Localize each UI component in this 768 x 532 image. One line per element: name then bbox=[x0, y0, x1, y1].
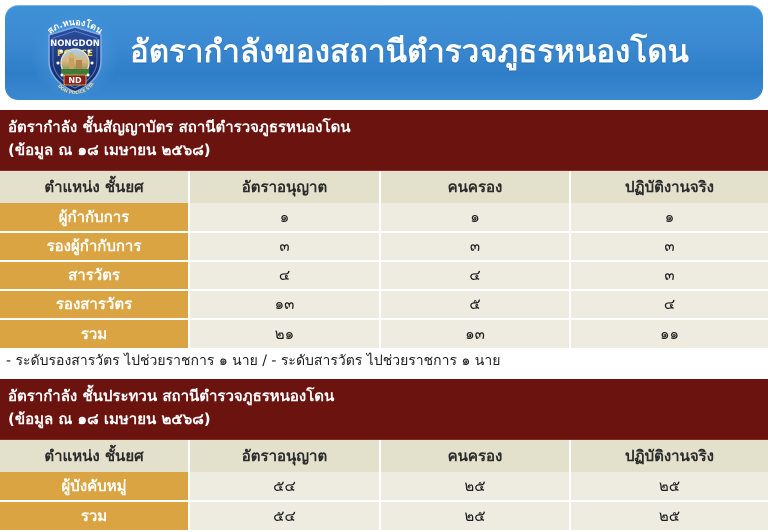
page-root: สภ.หนองโดน NONGDON POLICE bbox=[0, 0, 768, 532]
table2-col-held: คนครอง bbox=[380, 440, 570, 472]
table1-r0-rank: ผู้กำกับการ bbox=[0, 203, 189, 232]
table-commissioned-officers: อัตรากำลัง ชั้นสัญญาบัตร สถานีตำรวจภูธรห… bbox=[0, 110, 768, 348]
table1-r2-rank: สารวัตร bbox=[0, 261, 189, 290]
table2-title-line1: อัตรากำลัง ชั้นประทวน สถานีตำรวจภูธรหนอง… bbox=[8, 385, 760, 408]
svg-text:NONGDON: NONGDON bbox=[50, 39, 100, 49]
table1-header-row: ตำแหน่ง ชั้นยศ อัตราอนุญาต คนครอง ปฏิบัต… bbox=[0, 171, 768, 203]
table2-title-line2: (ข้อมูล ณ ๑๘ เมษายน ๒๕๖๘) bbox=[8, 408, 760, 431]
table-row: ผู้บังคับหมู่ ๕๔ ๒๕ ๒๕ bbox=[0, 472, 768, 501]
table1-total-held: ๑๓ bbox=[380, 319, 570, 348]
table2-r0-authorized: ๕๔ bbox=[189, 472, 380, 501]
table2-header: อัตรากำลัง ชั้นประทวน สถานีตำรวจภูธรหนอง… bbox=[0, 379, 768, 440]
table1-r3-held: ๕ bbox=[380, 290, 570, 319]
table2-header-row: ตำแหน่ง ชั้นยศ อัตราอนุญาต คนครอง ปฏิบัต… bbox=[0, 440, 768, 472]
table1-r3-active: ๔ bbox=[570, 290, 768, 319]
table1-r0-active: ๑ bbox=[570, 203, 768, 232]
table-row: รองผู้กำกับการ ๓ ๓ ๓ bbox=[0, 232, 768, 261]
table1-total-active: ๑๑ bbox=[570, 319, 768, 348]
table1-r2-authorized: ๔ bbox=[189, 261, 380, 290]
table-row: รองสารวัตร ๑๓ ๕ ๔ bbox=[0, 290, 768, 319]
table1-col-rank: ตำแหน่ง ชั้นยศ bbox=[0, 171, 189, 203]
table1-r1-authorized: ๓ bbox=[189, 232, 380, 261]
table1-r1-active: ๓ bbox=[570, 232, 768, 261]
table1-r3-authorized: ๑๓ bbox=[189, 290, 380, 319]
page-title: อัตรากำลังของสถานีตำรวจภูธรหนองโดน bbox=[130, 35, 689, 71]
table-row: สารวัตร ๔ ๔ ๓ bbox=[0, 261, 768, 290]
table1-r3-rank: รองสารวัตร bbox=[0, 290, 189, 319]
table1-title-line2: (ข้อมูล ณ ๑๘ เมษายน ๒๕๖๘) bbox=[8, 139, 760, 162]
nongdon-police-badge-icon: สภ.หนองโดน NONGDON POLICE bbox=[31, 11, 119, 99]
table-row-total: รวม ๕๔ ๒๕ ๒๕ bbox=[0, 501, 768, 530]
table-row-total: รวม ๒๑ ๑๓ ๑๑ bbox=[0, 319, 768, 348]
table2-col-rank: ตำแหน่ง ชั้นยศ bbox=[0, 440, 189, 472]
table2-col-active: ปฏิบัติงานจริง bbox=[570, 440, 768, 472]
table1-r1-rank: รองผู้กำกับการ bbox=[0, 232, 189, 261]
table2-total-active: ๒๕ bbox=[570, 501, 768, 530]
table1-r0-authorized: ๑ bbox=[189, 203, 380, 232]
table2-total-authorized: ๕๔ bbox=[189, 501, 380, 530]
table2-r0-rank: ผู้บังคับหมู่ bbox=[0, 472, 189, 501]
table1-col-authorized: อัตราอนุญาต bbox=[189, 171, 380, 203]
table-row: ผู้กำกับการ ๑ ๑ ๑ bbox=[0, 203, 768, 232]
table1-r2-held: ๔ bbox=[380, 261, 570, 290]
table2-total-rank: รวม bbox=[0, 501, 189, 530]
table1-total-rank: รวม bbox=[0, 319, 189, 348]
footnote-text: - ระดับรองสารวัตร ไปช่วยราชการ ๑ นาย / -… bbox=[6, 350, 746, 372]
table1-r0-held: ๑ bbox=[380, 203, 570, 232]
table2-r0-active: ๒๕ bbox=[570, 472, 768, 501]
table1-total-authorized: ๒๑ bbox=[189, 319, 380, 348]
table1-title-line1: อัตรากำลัง ชั้นสัญญาบัตร สถานีตำรวจภูธรห… bbox=[8, 116, 760, 139]
table1-r2-active: ๓ bbox=[570, 261, 768, 290]
table2-total-held: ๒๕ bbox=[380, 501, 570, 530]
table1-col-active: ปฏิบัติงานจริง bbox=[570, 171, 768, 203]
table2-col-authorized: อัตราอนุญาต bbox=[189, 440, 380, 472]
table2-r0-held: ๒๕ bbox=[380, 472, 570, 501]
page-banner: สภ.หนองโดน NONGDON POLICE bbox=[5, 5, 763, 100]
table1-r1-held: ๓ bbox=[380, 232, 570, 261]
table1: ตำแหน่ง ชั้นยศ อัตราอนุญาต คนครอง ปฏิบัต… bbox=[0, 171, 768, 348]
table2: ตำแหน่ง ชั้นยศ อัตราอนุญาต คนครอง ปฏิบัต… bbox=[0, 440, 768, 530]
table1-header: อัตรากำลัง ชั้นสัญญาบัตร สถานีตำรวจภูธรห… bbox=[0, 110, 768, 171]
svg-text:ND: ND bbox=[68, 76, 82, 85]
table-non-commissioned-officers: อัตรากำลัง ชั้นประทวน สถานีตำรวจภูธรหนอง… bbox=[0, 379, 768, 530]
table1-col-held: คนครอง bbox=[380, 171, 570, 203]
